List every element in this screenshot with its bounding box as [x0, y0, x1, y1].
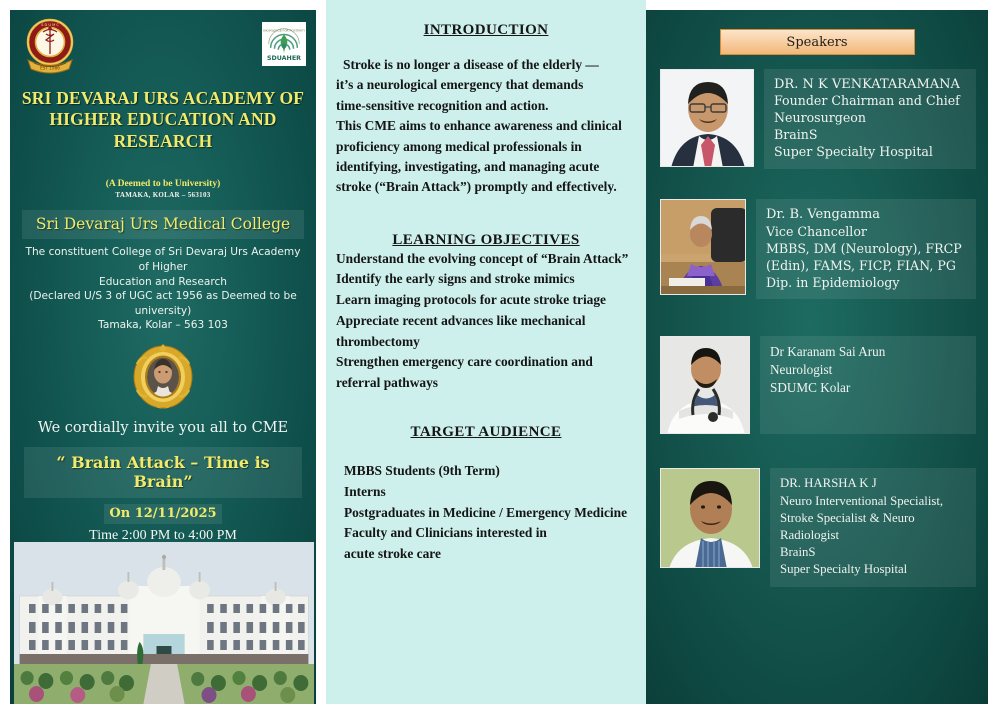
speaker-detail: BrainS	[774, 127, 968, 144]
speaker-card: Dr. B. Vengamma Vice Chancellor MBBS, DM…	[660, 199, 976, 299]
intro-line-6: stroke (“Brain Attack”) promptly and eff…	[336, 177, 636, 197]
speaker-detail: Neurologist	[770, 361, 968, 379]
left-panel-body: EST 1986 S D U M C SDUAHER	[10, 10, 316, 704]
middle-panel: INTRODUCTION Stroke is no longer a disea…	[326, 0, 646, 704]
right-panel: Speakers	[646, 0, 1000, 704]
event-theme-band: “ Brain Attack – Time is Brain”	[24, 447, 302, 498]
svg-text:EST 1986: EST 1986	[40, 66, 60, 71]
svg-text:KNOWLEDGE FOR POSTERITY: KNOWLEDGE FOR POSTERITY	[263, 29, 305, 33]
academy-title-line1: SRI DEVARAJ URS ACADEMY OF	[14, 88, 312, 109]
college-sub-line1: The constituent College of Sri Devaraj U…	[20, 245, 306, 274]
speaker-info: DR. N K VENKATARAMANA Founder Chairman a…	[764, 69, 976, 169]
speaker-photo-karanam-sai-arun	[660, 336, 750, 434]
speaker-photo-vengamma	[660, 199, 746, 295]
speaker-card: DR. N K VENKATARAMANA Founder Chairman a…	[660, 69, 976, 169]
objective-item: Identify the early signs and stroke mimi…	[336, 269, 636, 290]
college-subtitle: The constituent College of Sri Devaraj U…	[20, 245, 306, 333]
intro-line-2: time-sensitive recognition and action.	[336, 96, 636, 116]
speaker-photo-harsha-kj	[660, 468, 760, 568]
invite-line: We cordially invite you all to CME	[10, 420, 316, 436]
speaker-detail: (Edin), FAMS, FICP, FIAN, PG	[766, 258, 968, 275]
speaker-name: Dr Karanam Sai Arun	[770, 343, 968, 361]
objective-item: Appreciate recent advances like mechanic…	[336, 311, 636, 332]
speaker-detail: BrainS	[780, 544, 968, 561]
speakers-panel: Speakers	[646, 10, 988, 704]
audience-item: MBBS Students (9th Term)	[344, 461, 636, 482]
speakers-header-button[interactable]: Speakers	[720, 29, 915, 55]
speaker-detail: Stroke Specialist & Neuro	[780, 510, 968, 527]
speaker-detail: Super Specialty Hospital	[780, 561, 968, 578]
college-sub-line3: (Declared U/S 3 of UGC act 1956 as Deeme…	[20, 289, 306, 318]
audience-item: Postgraduates in Medicine / Emergency Me…	[344, 503, 636, 524]
speaker-detail: SDUMC Kolar	[770, 379, 968, 397]
speaker-name: DR. N K VENKATARAMANA	[774, 76, 968, 93]
academy-location: TAMAKA, KOLAR – 563103	[10, 191, 316, 199]
introduction-heading: INTRODUCTION	[336, 22, 636, 39]
college-name-band: Sri Devaraj Urs Medical College	[22, 210, 304, 239]
brochure-page: EST 1986 S D U M C SDUAHER	[0, 0, 1000, 704]
sdumc-caduceus-crest-icon: EST 1986 S D U M C	[20, 16, 80, 78]
objective-item: Learn imaging protocols for acute stroke…	[336, 290, 636, 311]
left-panel: EST 1986 S D U M C SDUAHER	[0, 0, 326, 704]
speaker-card: DR. HARSHA K J Neuro Interventional Spec…	[660, 468, 976, 586]
speaker-detail: Super Specialty Hospital	[774, 144, 968, 161]
target-audience-heading: TARGET AUDIENCE	[336, 424, 636, 441]
academy-title: SRI DEVARAJ URS ACADEMY OF HIGHER EDUCAT…	[10, 88, 316, 152]
speaker-name: Dr. B. Vengamma	[766, 206, 968, 223]
academy-title-line2: HIGHER EDUCATION AND RESEARCH	[14, 109, 312, 152]
objective-item: thrombectomy	[336, 332, 636, 353]
intro-line-3: This CME aims to enhance awareness and c…	[336, 116, 636, 136]
speaker-detail: Neuro Interventional Specialist,	[780, 493, 968, 510]
audience-item: Interns	[344, 482, 636, 503]
intro-line-1: it’s a neurological emergency that deman…	[336, 75, 636, 95]
speaker-detail: Dip. in Epidemiology	[766, 275, 968, 292]
speaker-detail: Founder Chairman and Chief	[774, 93, 968, 110]
objective-item: referral pathways	[336, 373, 636, 394]
audience-item: acute stroke care	[344, 544, 636, 565]
intro-line-5: identifying, investigating, and managing…	[336, 157, 636, 177]
speaker-card: Dr Karanam Sai Arun Neurologist SDUMC Ko…	[660, 336, 976, 434]
svg-text:SDUAHER: SDUAHER	[267, 55, 301, 62]
sduaher-logo-icon: SDUAHER KNOWLEDGE FOR POSTERITY	[262, 22, 306, 66]
speaker-detail: Neurosurgeon	[774, 110, 968, 127]
college-sub-line4: Tamaka, Kolar – 563 103	[20, 318, 306, 333]
learning-objectives-heading: LEARNING OBJECTIVES	[336, 232, 636, 249]
logo-row: EST 1986 S D U M C SDUAHER	[10, 10, 316, 84]
speaker-info: DR. HARSHA K J Neuro Interventional Spec…	[770, 468, 976, 586]
intro-line-0: Stroke is no longer a disease of the eld…	[336, 55, 636, 75]
speaker-photo-venkataramana	[660, 69, 754, 167]
speaker-name: DR. HARSHA K J	[780, 475, 968, 492]
audience-item: Faculty and Clinicians interested in	[344, 523, 636, 544]
speaker-detail: MBBS, DM (Neurology), FRCP	[766, 241, 968, 258]
objective-item: Understand the evolving concept of “Brai…	[336, 249, 636, 270]
speaker-info: Dr Karanam Sai Arun Neurologist SDUMC Ko…	[760, 336, 976, 434]
speaker-detail: Vice Chancellor	[766, 224, 968, 241]
deemed-university-label: (A Deemed to be University)	[10, 178, 316, 190]
intro-line-4: proficiency among medical professionals …	[336, 137, 636, 157]
svg-text:S D U M C: S D U M C	[41, 23, 59, 27]
founder-portrait-medallion-icon	[131, 342, 195, 410]
speaker-detail: Radiologist	[780, 527, 968, 544]
founder-medallion-wrap	[10, 342, 316, 410]
introduction-body: Stroke is no longer a disease of the eld…	[336, 55, 636, 198]
event-date-band: On 12/11/2025	[104, 504, 222, 524]
speaker-info: Dr. B. Vengamma Vice Chancellor MBBS, DM…	[756, 199, 976, 299]
learning-objectives-list: Understand the evolving concept of “Brai…	[336, 249, 636, 394]
objective-item: Strengthen emergency care coordination a…	[336, 352, 636, 373]
college-campus-building-photo	[14, 542, 314, 704]
college-sub-line2: Education and Research	[20, 275, 306, 290]
target-audience-list: MBBS Students (9th Term) Interns Postgra…	[336, 461, 636, 565]
